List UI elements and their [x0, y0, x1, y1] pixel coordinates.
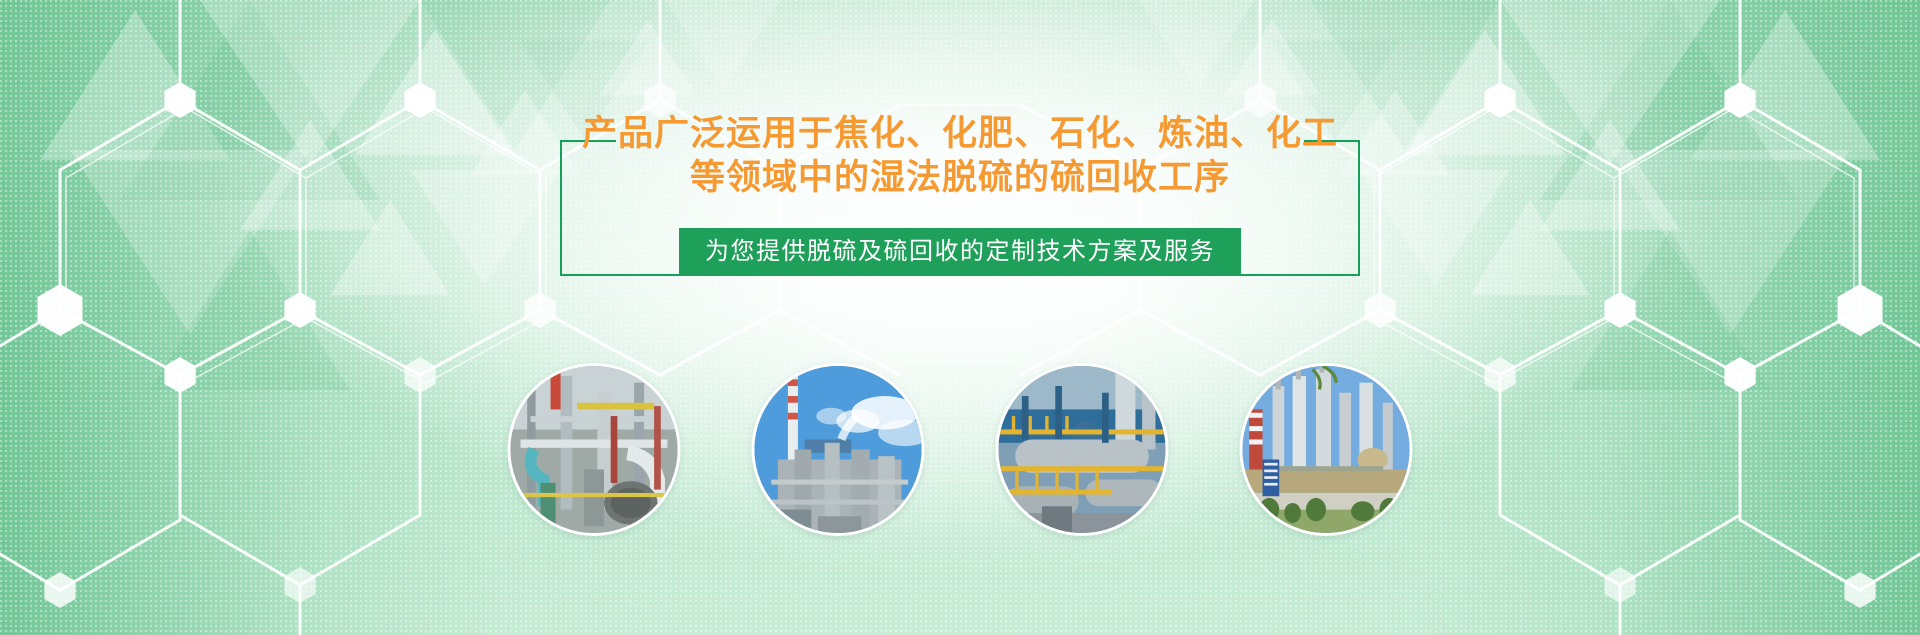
photo-desulfurization-piping[interactable]	[508, 363, 681, 536]
photo-plant-stack[interactable]	[752, 363, 925, 536]
hexagon-network-icon	[0, 0, 1920, 635]
headline-text: 产品广泛运用于焦化、化肥、石化、炼油、化工 等领域中的湿法脱硫的硫回收工序	[0, 112, 1920, 200]
photo-desulfurization-piping-image	[511, 366, 678, 533]
headline-line-1: 产品广泛运用于焦化、化肥、石化、炼油、化工	[582, 114, 1338, 153]
photo-plant-stack-image	[755, 366, 922, 533]
photo-storage-tanks-image	[999, 366, 1166, 533]
photo-refinery-towers[interactable]	[1240, 363, 1413, 536]
headline-block: 产品广泛运用于焦化、化肥、石化、炼油、化工 等领域中的湿法脱硫的硫回收工序 为您…	[0, 112, 1920, 282]
photo-storage-tanks[interactable]	[996, 363, 1169, 536]
photo-strip	[508, 363, 1413, 538]
subheadline-banner: 为您提供脱硫及硫回收的定制技术方案及服务	[679, 228, 1241, 276]
photo-refinery-towers-image	[1243, 366, 1410, 533]
headline-line-2: 等领域中的湿法脱硫的硫回收工序	[0, 156, 1920, 200]
promo-banner: 产品广泛运用于焦化、化肥、石化、炼油、化工 等领域中的湿法脱硫的硫回收工序 为您…	[0, 0, 1920, 635]
